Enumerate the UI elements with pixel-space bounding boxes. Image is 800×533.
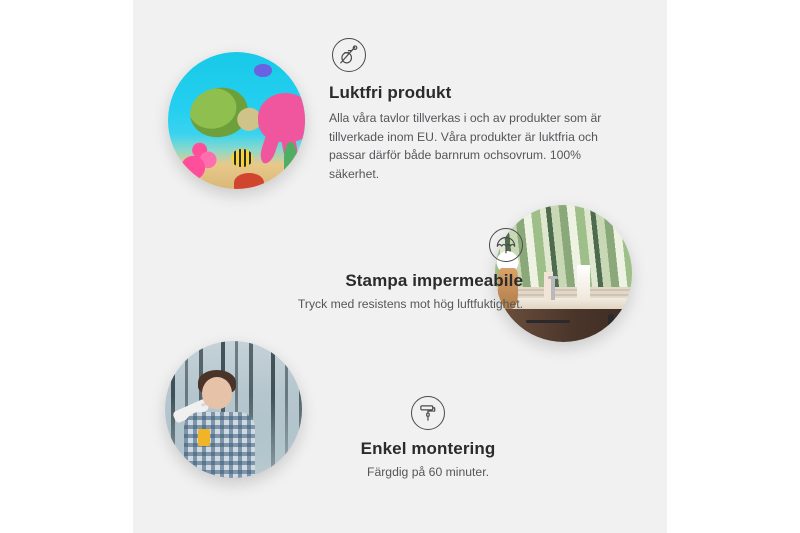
crab-illustration <box>234 173 264 189</box>
feature-description: Alla våra tavlor tillverkas i och av pro… <box>329 109 629 183</box>
soap-bottle <box>577 265 589 301</box>
striped-fish-illustration <box>231 149 253 167</box>
sea-turtle-illustration <box>187 84 251 141</box>
seaweed-illustration <box>284 142 296 178</box>
coral-illustration <box>179 137 226 181</box>
wood-vanity-cabinet <box>503 309 632 342</box>
umbrella-icon <box>489 228 523 262</box>
paint-can <box>198 429 210 447</box>
woman-face <box>202 377 232 410</box>
photo-woman-with-paint-roller-forest <box>165 341 302 478</box>
octopus-illustration <box>258 93 305 142</box>
photo-underwater-cartoon-mural <box>168 52 305 189</box>
screenshot-root: Luktfri produkt Alla våra tavlor tillver… <box>0 0 800 533</box>
no-odour-spray-bottle-icon <box>332 38 366 72</box>
feature-water-resistant-print: Stampa impermeabile Tryck med resistens … <box>193 228 523 314</box>
photo-underwater-art <box>168 52 305 189</box>
feature-title: Enkel montering <box>313 438 543 459</box>
feature-odour-free: Luktfri produkt Alla våra tavlor tillver… <box>329 38 629 183</box>
feature-easy-installation: Enkel montering Färgdig på 60 minuter. <box>313 396 543 482</box>
photo-forest-art <box>165 341 302 478</box>
feature-description: Färgdig på 60 minuter. <box>313 463 543 482</box>
sink-faucet <box>551 276 555 299</box>
feature-banner: Luktfri produkt Alla våra tavlor tillver… <box>133 0 667 533</box>
paint-roller-icon <box>411 396 445 430</box>
blue-fish-illustration <box>254 64 272 76</box>
feature-title: Stampa impermeabile <box>193 270 523 291</box>
plaid-shirt <box>184 412 255 478</box>
feature-description: Tryck med resistens mot hög luftfuktighe… <box>193 295 523 314</box>
feature-title: Luktfri produkt <box>329 82 629 103</box>
